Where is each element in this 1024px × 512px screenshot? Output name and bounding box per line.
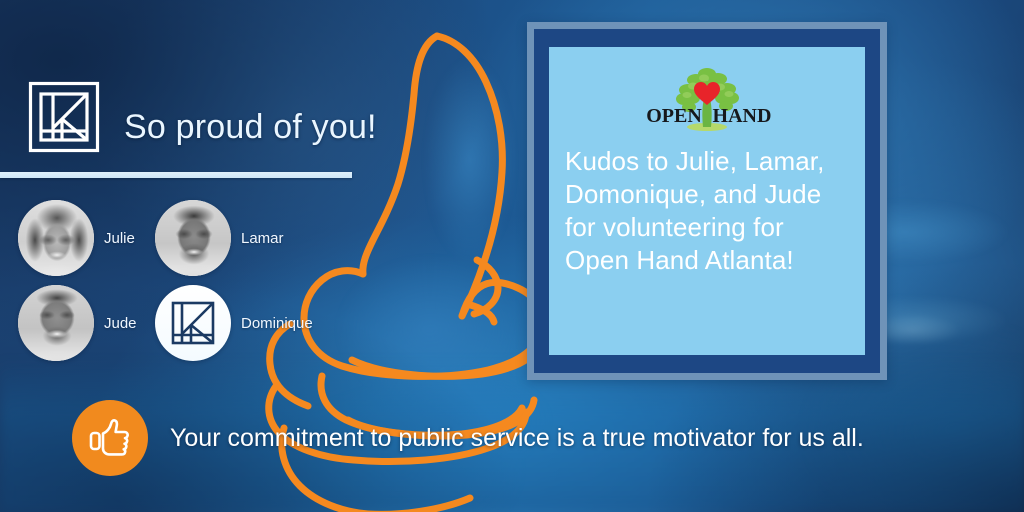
recipient-julie: Julie: [18, 200, 135, 276]
recipient-name: Jude: [104, 315, 137, 332]
avatar: [155, 285, 231, 361]
kudos-card-image: So proud of you! Julie Lamar Jude: [0, 0, 1024, 512]
avatar-photo-lamar: [155, 200, 231, 276]
title-divider: [0, 172, 352, 178]
avatar: [18, 285, 94, 361]
card-body: OPEN HAND Kudos to Julie, Lamar, Domoniq…: [549, 47, 865, 355]
page-title: So proud of you!: [124, 108, 377, 147]
recipient-jude: Jude: [18, 285, 137, 361]
brand-word-open: OPEN: [646, 105, 702, 127]
footer-kudos-line: Your commitment to public service is a t…: [72, 400, 864, 476]
recipient-name: Dominique: [241, 315, 313, 332]
recipient-dominique: Dominique: [155, 285, 313, 361]
open-hand-tree-heart-logo-icon: OPEN HAND: [632, 65, 782, 135]
avatar: [155, 200, 231, 276]
open-hand-brand-logo: OPEN HAND: [565, 65, 849, 135]
thumbs-up-badge: [72, 400, 148, 476]
kudos-message-text: Kudos to Julie, Lamar, Domonique, and Ju…: [565, 145, 849, 277]
recipient-lamar: Lamar: [155, 200, 284, 276]
kudos-k-logo-icon: [28, 81, 100, 153]
card-border-band: OPEN HAND Kudos to Julie, Lamar, Domoniq…: [534, 29, 880, 373]
footer-message: Your commitment to public service is a t…: [170, 424, 864, 453]
brand-word-hand: HAND: [713, 105, 772, 127]
recipient-name: Lamar: [241, 230, 284, 247]
avatar: [18, 200, 94, 276]
avatar-placeholder-k-logo-icon: [169, 299, 217, 347]
kudos-message-card: OPEN HAND Kudos to Julie, Lamar, Domoniq…: [527, 22, 887, 380]
avatar-photo-julie: [18, 200, 94, 276]
thumbs-up-icon: [87, 415, 133, 461]
avatar-photo-jude: [18, 285, 94, 361]
recipient-name: Julie: [104, 230, 135, 247]
